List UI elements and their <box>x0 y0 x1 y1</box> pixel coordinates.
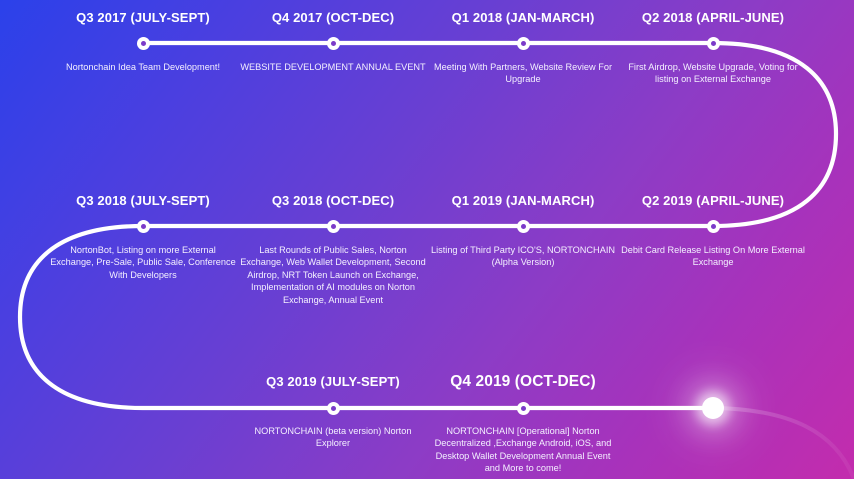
milestone-title: Q4 2019 (OCT-DEC) <box>423 374 623 389</box>
milestone-node-q2-2018[interactable] <box>707 37 720 50</box>
milestone-description: Last Rounds of Public Sales, Norton Exch… <box>233 244 433 306</box>
milestone-description: First Airdrop, Website Upgrade, Voting f… <box>613 61 813 86</box>
milestone-title: Q3 2018 (JULY-SEPT) <box>43 193 243 208</box>
milestone-title: Q2 2018 (APRIL-JUNE) <box>613 10 813 25</box>
milestone-title: Q4 2017 (OCT-DEC) <box>233 10 433 25</box>
timeline-end-marker-icon[interactable] <box>702 397 724 419</box>
milestone-description: Listing of Third Party ICO'S, NORTONCHAI… <box>423 244 623 269</box>
milestone-title: Q2 2019 (APRIL-JUNE) <box>613 193 813 208</box>
milestone-node-q4-2019[interactable] <box>517 402 530 415</box>
milestone-node-q1-2019[interactable] <box>517 220 530 233</box>
milestone-description: NortonBot, Listing on more External Exch… <box>43 244 243 281</box>
roadmap-timeline: Q3 2017 (JULY-SEPT) Nortonchain Idea Tea… <box>0 0 854 479</box>
milestone-node-q4-2017[interactable] <box>327 37 340 50</box>
rail-path-tail <box>713 408 854 479</box>
milestone-node-q3-2018-jul[interactable] <box>137 220 150 233</box>
milestone-description: Debit Card Release Listing On More Exter… <box>613 244 813 269</box>
milestone-node-q3-2017[interactable] <box>137 37 150 50</box>
milestone-node-q3-2018-oct[interactable] <box>327 220 340 233</box>
milestone-title: Q3 2017 (JULY-SEPT) <box>43 10 243 25</box>
milestone-node-q3-2019[interactable] <box>327 402 340 415</box>
milestone-title: Q3 2019 (JULY-SEPT) <box>233 374 433 389</box>
milestone-node-q2-2019[interactable] <box>707 220 720 233</box>
milestone-node-q1-2018[interactable] <box>517 37 530 50</box>
milestone-title: Q3 2018 (OCT-DEC) <box>233 193 433 208</box>
milestone-description: NORTONCHAIN [Operational] Norton Decentr… <box>423 425 623 475</box>
milestone-description: Nortonchain Idea Team Development! <box>43 61 243 73</box>
milestone-description: NORTONCHAIN (beta version) Norton Explor… <box>233 425 433 450</box>
milestone-description: Meeting With Partners, Website Review Fo… <box>423 61 623 86</box>
milestone-description: WEBSITE DEVELOPMENT ANNUAL EVENT <box>233 61 433 73</box>
milestone-title: Q1 2019 (JAN-MARCH) <box>423 193 623 208</box>
milestone-title: Q1 2018 (JAN-MARCH) <box>423 10 623 25</box>
